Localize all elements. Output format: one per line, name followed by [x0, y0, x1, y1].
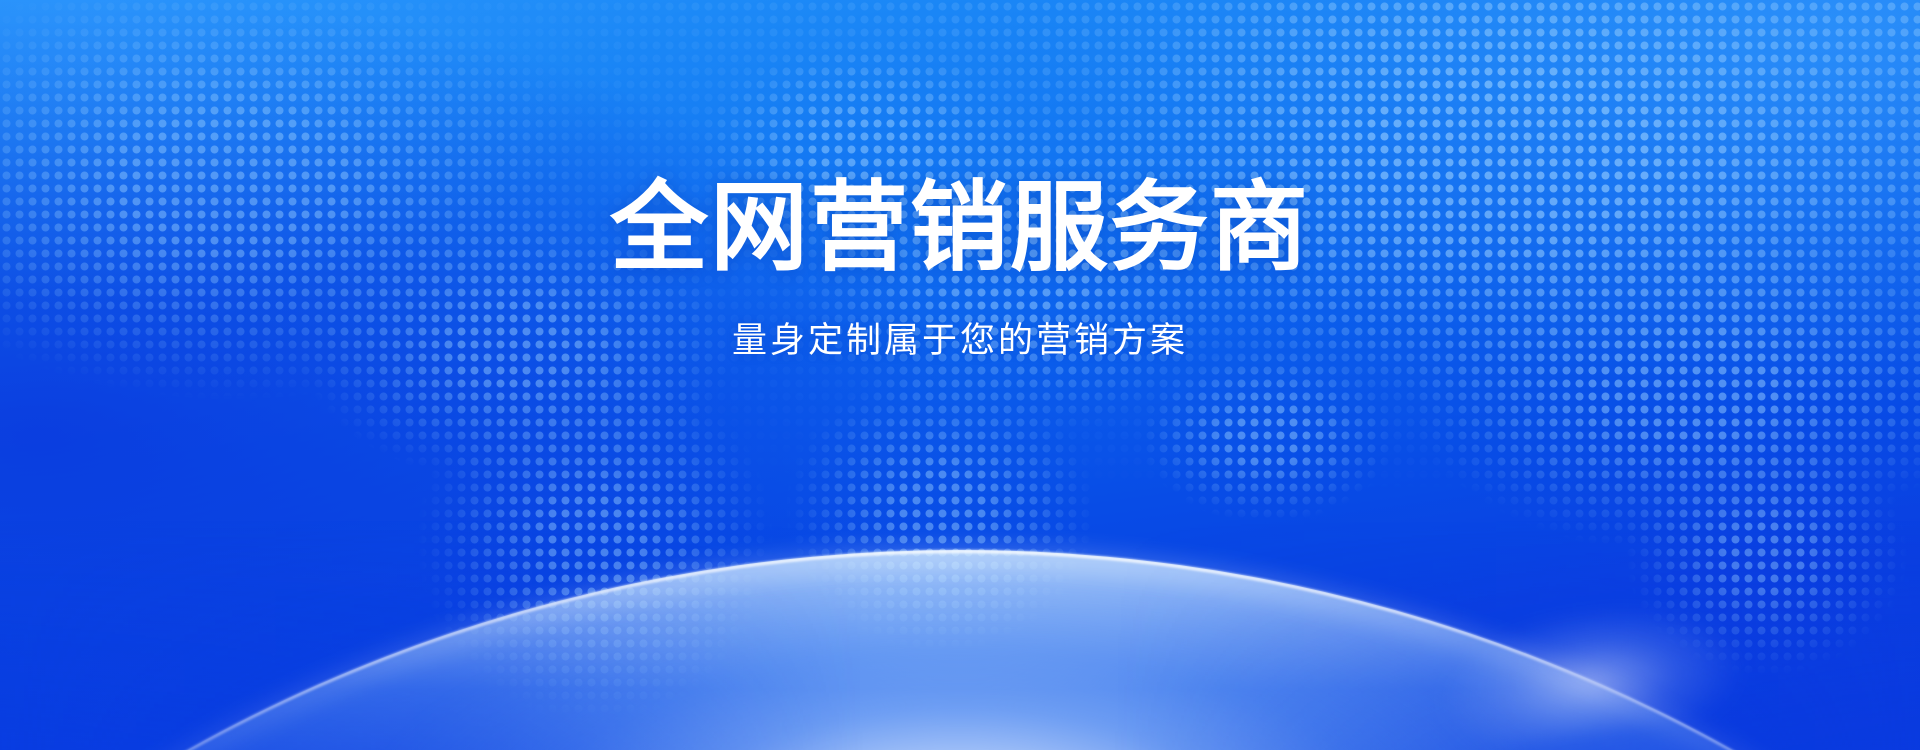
page-title: 全网营销服务商: [0, 176, 1920, 280]
hero-copy-block: 全网营销服务商 量身定制属于您的营销方案: [0, 176, 1920, 363]
page-subtitle: 量身定制属于您的营销方案: [0, 318, 1920, 364]
bottom-vignette: [0, 520, 1920, 750]
hero-banner: 全网营销服务商 量身定制属于您的营销方案: [0, 0, 1920, 750]
